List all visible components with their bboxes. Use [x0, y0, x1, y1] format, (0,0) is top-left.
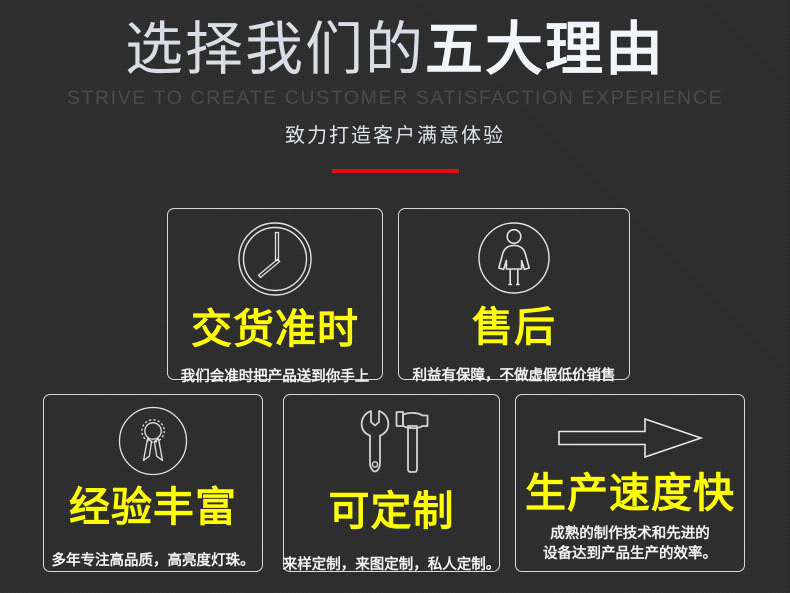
card-title: 可定制 — [329, 491, 455, 532]
page-title-thin: 选择我们的 — [125, 15, 425, 83]
divider-wrapper — [0, 169, 790, 173]
red-divider — [332, 169, 459, 173]
promo-page: 选择我们的五大理由 STRIVE TO CREATE CUSTOMER SATI… — [0, 0, 790, 593]
feature-card-aftersales[interactable]: 售后 利益有保障，不做虚假低价销售 — [398, 208, 630, 380]
card-description: 来样定制，来图定制，私人定制。 — [283, 556, 501, 576]
person-in-circle-icon — [475, 219, 553, 297]
subtitle-english: STRIVE TO CREATE CUSTOMER SATISFACTION E… — [0, 87, 790, 110]
card-title: 生产速度快 — [525, 473, 735, 514]
card-description-line: 利益有保障，不做虚假低价销售 — [413, 367, 616, 387]
feature-card-speed[interactable]: 生产速度快 成熟的制作技术和先进的 设备达到产品生产的效率。 — [515, 394, 745, 572]
right-arrow-icon — [557, 417, 703, 459]
feature-card-delivery[interactable]: 交货准时 我们会准时把产品送到你手上 — [167, 208, 383, 380]
wrench-hammer-icon — [344, 407, 440, 477]
card-description: 利益有保障，不做虚假低价销售 — [413, 367, 616, 387]
card-description-line: 我们会准时把产品送到你手上 — [181, 368, 370, 388]
feature-card-custom[interactable]: 可定制 来样定制，来图定制，私人定制。 — [283, 394, 500, 572]
card-description: 我们会准时把产品送到你手上 — [181, 368, 370, 388]
card-title: 交货准时 — [191, 309, 359, 350]
card-description-line: 来样定制，来图定制，私人定制。 — [283, 556, 501, 576]
card-title: 售后 — [472, 307, 556, 348]
award-ribbon-icon — [116, 404, 190, 478]
card-description-line: 多年专注高品质，高亮度灯珠。 — [52, 552, 255, 572]
clock-icon — [237, 221, 313, 297]
header: 选择我们的五大理由 STRIVE TO CREATE CUSTOMER SATI… — [0, 0, 790, 173]
card-description-line: 成熟的制作技术和先进的 — [543, 525, 717, 545]
page-title: 选择我们的五大理由 — [0, 14, 790, 85]
page-title-bold: 五大理由 — [425, 15, 665, 83]
feature-card-experience[interactable]: 经验丰富 多年专注高品质，高亮度灯珠。 — [43, 394, 263, 572]
subtitle-chinese: 致力打造客户满意体验 — [0, 119, 790, 148]
card-description: 成熟的制作技术和先进的 设备达到产品生产的效率。 — [543, 525, 717, 564]
card-title: 经验丰富 — [69, 487, 237, 528]
card-description-line: 设备达到产品生产的效率。 — [543, 545, 717, 565]
card-description: 多年专注高品质，高亮度灯珠。 — [52, 552, 255, 572]
